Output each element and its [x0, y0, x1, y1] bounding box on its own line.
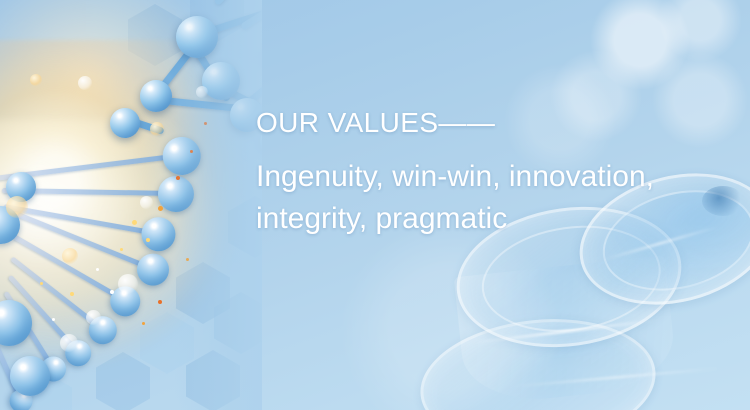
bokeh-particle [78, 76, 92, 90]
bokeh-particle [60, 334, 78, 352]
molecular-artwork [0, 0, 262, 410]
page-title: OUR VALUES—— [256, 106, 750, 140]
bokeh-particle [30, 74, 42, 86]
tagline-line-1: Ingenuity, win-win, innovation, [256, 156, 750, 198]
tagline-line-2: integrity, pragmatic [256, 198, 750, 240]
banner-copy: OUR VALUES—— Ingenuity, win-win, innovat… [256, 106, 750, 240]
artwork-edge-fade [174, 0, 262, 410]
bokeh-particle [86, 310, 101, 325]
sphere [10, 356, 50, 396]
values-banner: OUR VALUES—— Ingenuity, win-win, innovat… [0, 0, 750, 410]
bokeh-particle [6, 196, 28, 218]
bokeh-particle [118, 274, 138, 294]
bokeh-particle [150, 122, 164, 136]
bokeh-particle [140, 196, 153, 209]
values-tagline: Ingenuity, win-win, innovation, integrit… [256, 156, 750, 240]
bokeh-particle [62, 248, 78, 264]
